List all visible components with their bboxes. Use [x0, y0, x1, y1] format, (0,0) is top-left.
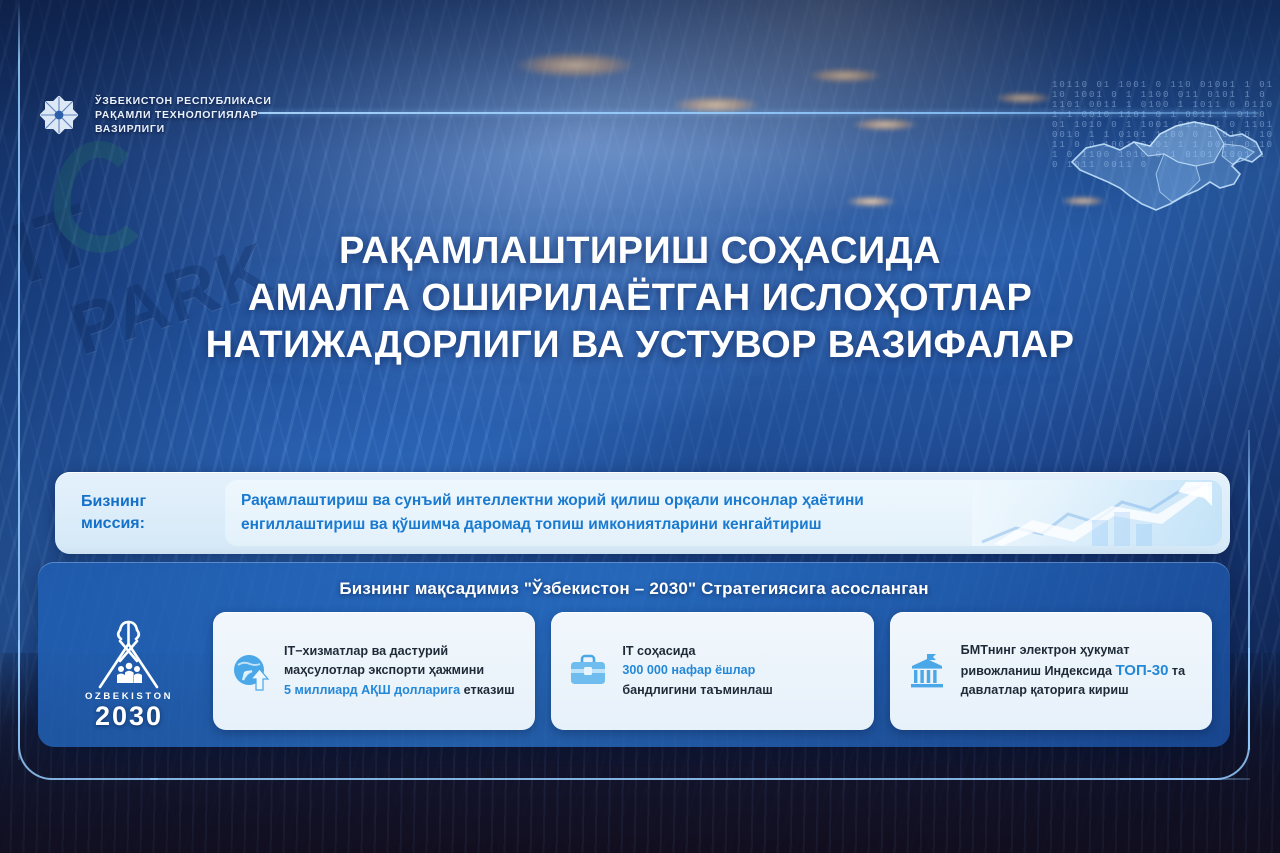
mission-label: Бизнинг миссия:	[55, 491, 225, 535]
upward-growth-arrow-icon	[972, 480, 1222, 546]
globe-export-arrow-icon	[229, 650, 271, 692]
goal-card-egov-text: БМТнинг электрон ҳукумат ривожланиш Инде…	[961, 641, 1185, 701]
uzbekistan-map-icon	[1064, 104, 1269, 220]
goal-export-line-1: IT−хизматлар ва дастурий	[284, 642, 515, 662]
goal-export-line-3-post: етказиш	[460, 683, 514, 697]
goal-export-line-2: маҳсулотлар экспорти ҳажмини	[284, 661, 515, 681]
mission-card: Бизнинг миссия: Рақамлаштириш ва сунъий …	[55, 472, 1230, 554]
ministry-line-1: ЎЗБЕКИСТОН РЕСПУБЛИКАСИ	[95, 94, 272, 108]
government-building-icon	[906, 650, 948, 692]
goal-employment-line-3: бандлигини таъминлаш	[622, 681, 772, 701]
goal-card-export[interactable]: IT−хизматлар ва дастурий маҳсулотлар экс…	[213, 612, 535, 730]
goal-card-employment[interactable]: IT соҳасида 300 000 нафар ёшлар бандлиги…	[551, 612, 873, 730]
goal-employment-highlight: 300 000 нафар ёшлар	[622, 661, 772, 681]
humo-bird-monument-icon	[90, 617, 168, 691]
frame-bottom-line	[150, 778, 1250, 780]
frame-top-line	[258, 112, 1258, 114]
ceiling-lamp-icon	[846, 196, 896, 207]
mission-label-line-1: Бизнинг	[81, 491, 225, 513]
emblem-year: 2030	[95, 703, 163, 730]
ceiling-lamp-icon	[515, 52, 635, 78]
ceiling-lamp-icon	[808, 68, 882, 83]
slide-canvas: IT PARK 10110 01 1001 0 110 01001 1 0110…	[0, 0, 1280, 853]
title-line-3: НАТИЖАДОРЛИГИ ВА УСТУВОР ВАЗИФАЛАР	[0, 322, 1280, 369]
mission-body: Рақамлаштириш ва сунъий интеллектни жори…	[225, 480, 1222, 546]
ceiling-lamp-icon	[994, 92, 1052, 104]
ministry-logo-block: ЎЗБЕКИСТОН РЕСПУБЛИКАСИ РАҚАМЛИ ТЕХНОЛОГ…	[36, 92, 272, 138]
mission-text: Рақамлаштириш ва сунъий интеллектни жори…	[241, 489, 864, 537]
title-line-2: АМАЛГА ОШИРИЛАЁТГАН ИСЛОҲОТЛАР	[0, 275, 1280, 322]
briefcase-icon	[567, 650, 609, 692]
goal-card-employment-text: IT соҳасида 300 000 нафар ёшлар бандлиги…	[622, 642, 772, 701]
goals-card-list: IT−хизматлар ва дастурий маҳсулотлар экс…	[213, 612, 1212, 730]
goal-egov-line-1: БМТнинг электрон ҳукумат	[961, 641, 1185, 661]
goal-card-egov-index[interactable]: БМТнинг электрон ҳукумат ривожланиш Инде…	[890, 612, 1212, 730]
mission-text-line-1: Рақамлаштириш ва сунъий интеллектни жори…	[241, 489, 864, 513]
mission-label-line-2: миссия:	[81, 513, 225, 535]
goals-panel: Бизнинг мақсадимиз "Ўзбекистон – 2030" С…	[38, 562, 1230, 747]
mission-artwork	[972, 480, 1222, 546]
goal-egov-line-2-post: та	[1168, 664, 1185, 678]
goal-export-line-3: 5 миллиард АҚШ долларига етказиш	[284, 681, 515, 701]
goal-export-highlight: 5 миллиард АҚШ долларига	[284, 683, 460, 697]
goal-egov-highlight: ТОП-30	[1116, 662, 1169, 679]
ministry-name: ЎЗБЕКИСТОН РЕСПУБЛИКАСИ РАҚАМЛИ ТЕХНОЛОГ…	[95, 94, 272, 136]
uzbekistan-2030-emblem: OZBEKISTON 2030	[68, 602, 190, 730]
ceiling-lamp-icon	[852, 118, 918, 131]
ministry-line-3: ВАЗИРЛИГИ	[95, 122, 272, 136]
goal-egov-line-3: давлатлар қаторига кириш	[961, 681, 1185, 701]
uzbekistan-map-panel: 10110 01 1001 0 110 01001 1 0110 1001 0 …	[1050, 78, 1280, 238]
goals-heading: Бизнинг мақсадимиз "Ўзбекистон – 2030" С…	[38, 579, 1230, 599]
goal-card-export-text: IT−хизматлар ва дастурий маҳсулотлар экс…	[284, 642, 515, 701]
ministry-line-2: РАҚАМЛИ ТЕХНОЛОГИЯЛАР	[95, 108, 272, 122]
goal-employment-line-1: IT соҳасида	[622, 642, 772, 662]
title-line-1: РАҚАМЛАШТИРИШ СОҲАСИДА	[0, 228, 1280, 275]
eight-point-star-rosette-icon	[36, 92, 82, 138]
mission-text-line-2: енгиллаштириш ва қўшимча даромад топиш и…	[241, 513, 864, 537]
slide-title: РАҚАМЛАШТИРИШ СОҲАСИДА АМАЛГА ОШИРИЛАЁТГ…	[0, 228, 1280, 369]
goal-egov-line-2-pre: ривожланиш Индексида	[961, 664, 1116, 678]
goal-egov-line-2: ривожланиш Индексида ТОП-30 та	[961, 661, 1185, 682]
